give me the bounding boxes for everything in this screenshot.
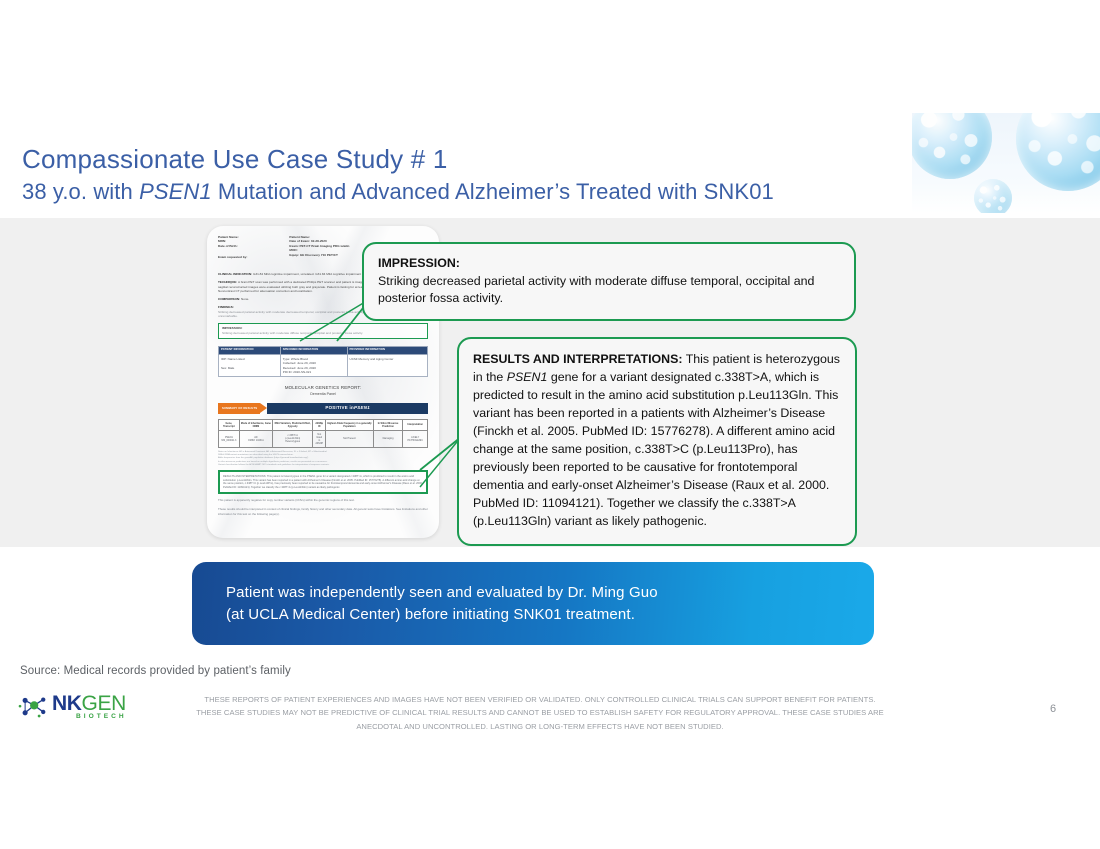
legal-disclaimer: THESE REPORTS OF PATIENT EXPERIENCES AND… bbox=[150, 693, 930, 733]
report-fine-print: Notes on Inheritance: AD = Autosomal Dom… bbox=[218, 451, 428, 467]
impression-callout-body: Striking decreased parietal activity wit… bbox=[378, 273, 840, 308]
impression-callout: IMPRESSION: Striking decreased parietal … bbox=[362, 242, 856, 321]
cell-gene-transcript: PSEN1 NM_000021.3 bbox=[219, 430, 240, 447]
patient-info-table: PATIENT INFORMATION SPECIMEN INFORMATION… bbox=[218, 346, 428, 377]
title-line-2: 38 y.o. with PSEN1 Mutation and Advanced… bbox=[22, 178, 942, 207]
table-row: IDP: Name Listed Sex: Male Type: Whole B… bbox=[219, 354, 428, 376]
summary-of-results-tag: SUMMARY OF RESULTS bbox=[218, 403, 260, 414]
comparison-label: COMPARISON: bbox=[218, 297, 240, 301]
col-patient-information: PATIENT INFORMATION bbox=[219, 346, 281, 354]
impression-text: Striking decreased parietal activity wit… bbox=[222, 331, 424, 335]
impression-label: IMPRESSION: bbox=[222, 326, 242, 330]
impression-callout-heading: IMPRESSION: bbox=[378, 255, 840, 273]
gene-variant-table: Gene, Transcript Mode of Inheritance, Ge… bbox=[218, 419, 428, 448]
clinical-indication-text: G31.84 Mild cognitive impairment, unrela… bbox=[252, 272, 361, 276]
cell-dna-variation: c.338T>A p.(Leu113Gln) Heterozygous bbox=[272, 430, 312, 447]
cell-allele-frequency: Not Present bbox=[326, 430, 373, 447]
results-callout-heading: RESULTS AND INTERPRETATIONS: bbox=[473, 352, 683, 366]
nk-cell-icon bbox=[1016, 113, 1100, 191]
positive-gene: PSEN1 bbox=[354, 405, 370, 411]
logo-gen-text: GEN bbox=[82, 692, 126, 715]
col-mode-of-inheritance: Mode of Inheritance, Gene OMIM bbox=[239, 419, 272, 430]
cell-mode-of-inheritance: AD OMIM: 104311 bbox=[239, 430, 272, 447]
col-provider-information: PROVIDER INFORMATION bbox=[347, 346, 427, 354]
gene-name-psen1: PSEN1 bbox=[139, 179, 212, 204]
title-suffix: Mutation and Advanced Alzheimer’s Treate… bbox=[212, 179, 774, 204]
positive-result-banner: POSITIVE in PSEN1 bbox=[267, 403, 428, 414]
slide-root: Compassionate Use Case Study # 1 38 y.o.… bbox=[0, 0, 1100, 849]
arrow-right-icon bbox=[260, 403, 267, 413]
disclaimer-line-2: THESE CASE STUDIES MAY NOT BE PREDICTIVE… bbox=[150, 706, 930, 719]
cell-specimen-information: Type: Whole Blood Collected: June 29, 20… bbox=[280, 354, 347, 376]
cell-dbsnp-id: Not listed in dbSNP bbox=[313, 430, 326, 447]
nkgen-biotech-logo: NKGEN BIOTECH bbox=[18, 692, 146, 726]
col-specimen-information: SPECIMEN INFORMATION bbox=[280, 346, 347, 354]
col-dbsnp-id: dbSNp ID bbox=[313, 419, 326, 430]
clinical-indication-label: CLINICAL INDICATION: bbox=[218, 272, 252, 276]
exam-type: Exam: PET-CT Brain Imaging PDG w/attn bbox=[289, 244, 349, 248]
cell-patient-information: IDP: Name Listed Sex: Male bbox=[219, 354, 281, 376]
table-header-row: Gene, Transcript Mode of Inheritance, Ge… bbox=[219, 419, 428, 430]
col-gene-transcript: Gene, Transcript bbox=[219, 419, 240, 430]
page-title: Compassionate Use Case Study # 1 38 y.o.… bbox=[22, 143, 942, 206]
col-interpretation: Interpretation bbox=[403, 419, 428, 430]
summary-of-results-banner: SUMMARY OF RESULTS POSITIVE in PSEN1 bbox=[218, 403, 428, 414]
report-cnv-note: This patient is apparently negative for … bbox=[218, 498, 428, 503]
col-allele-frequency: Highest Allele Frequency in a generally … bbox=[326, 419, 373, 430]
report-header-right: Patient Name: Date of Exam: 02-28-2020 E… bbox=[289, 235, 349, 260]
disclaimer-line-1: THESE REPORTS OF PATIENT EXPERIENCES AND… bbox=[150, 693, 930, 706]
physician-evaluation-callout: Patient was independently seen and evalu… bbox=[192, 562, 874, 645]
table-row: PSEN1 NM_000021.3 AD OMIM: 104311 c.338T… bbox=[219, 430, 428, 447]
dementia-panel-subtitle: Dementia Panel bbox=[218, 392, 428, 397]
cell-provider-information: UCSF Memory and Aging Center bbox=[347, 354, 427, 376]
cell-in-silico-prediction: Damaging bbox=[373, 430, 403, 447]
results-gene-psen1: PSEN1 bbox=[507, 370, 548, 384]
molecule-icon bbox=[18, 693, 52, 721]
cell-interpretation: LIKELY PATHOGENIC bbox=[403, 430, 428, 447]
page-number: 6 bbox=[1050, 703, 1056, 715]
technique-label: TECHNIQUE: bbox=[218, 280, 237, 284]
equipment-value: Equip: GE Discovery 710 PET/CT bbox=[289, 253, 349, 257]
nk-cell-icon bbox=[974, 179, 1012, 213]
report-limitations-note: These results should be interpreted in c… bbox=[218, 507, 428, 516]
col-in-silico-prediction: In Silico Missense Prediction bbox=[373, 419, 403, 430]
comparison-text: None. bbox=[240, 297, 249, 301]
findings-label: FINDINGS: bbox=[218, 305, 234, 309]
logo-nk-text: NK bbox=[52, 692, 82, 715]
results-callout-part2: gene for a variant designated c.338T>A, … bbox=[473, 370, 838, 528]
report-header-left: Patient Name: MRN: Date of Birth: Exam r… bbox=[218, 235, 247, 260]
report-impression-highlight: IMPRESSION: Striking decreased parietal … bbox=[218, 323, 428, 339]
exam-requested-label: Exam requested by: bbox=[218, 255, 247, 259]
title-prefix: 38 y.o. with bbox=[22, 179, 139, 204]
results-callout: RESULTS AND INTERPRETATIONS: This patien… bbox=[457, 337, 857, 546]
positive-label: POSITIVE in bbox=[325, 405, 354, 411]
col-dna-variation: DNA Variation, Predicted Effect, Zygosit… bbox=[272, 419, 312, 430]
physician-evaluation-text: Patient was independently seen and evalu… bbox=[226, 582, 658, 626]
report-results-highlight: RESULTS AND INTERPRETATIONS: This patien… bbox=[218, 470, 428, 494]
table-header-row: PATIENT INFORMATION SPECIMEN INFORMATION… bbox=[219, 346, 428, 354]
physician-evaluation-line-2: (at UCLA Medical Center) before initiati… bbox=[226, 604, 658, 626]
title-line-1: Compassionate Use Case Study # 1 bbox=[22, 143, 942, 176]
source-attribution: Source: Medical records provided by pati… bbox=[20, 665, 291, 677]
physician-evaluation-line-1: Patient was independently seen and evalu… bbox=[226, 582, 658, 604]
logo-biotech-text: BIOTECH bbox=[76, 713, 127, 720]
disclaimer-line-3: ANECDOTAL AND UNCONTROLLED. LASTING OR L… bbox=[150, 720, 930, 733]
